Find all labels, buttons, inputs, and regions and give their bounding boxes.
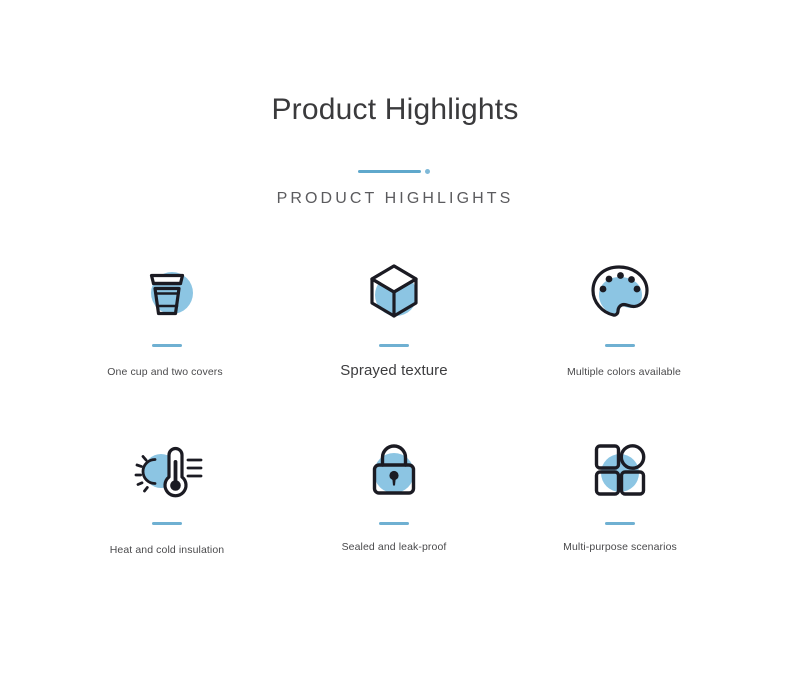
page-title: Product Highlights — [0, 0, 790, 128]
feature-label: Sprayed texture — [281, 347, 507, 379]
page-subtitle: PRODUCT HIGHLIGHTS — [0, 176, 790, 208]
feature-card-multi-purpose-scenarios[interactable]: Multi-purpose scenarios — [507, 430, 733, 553]
feature-card-sealed-and-leak-proof[interactable]: Sealed and leak-proof — [281, 430, 507, 553]
feature-card-sprayed-texture[interactable]: Sprayed texture — [281, 252, 507, 379]
divider-dot-icon — [425, 169, 430, 174]
isometric-box-icon — [281, 252, 507, 330]
feature-label: One cup and two covers — [52, 347, 278, 378]
paint-palette-icon — [507, 252, 733, 330]
product-highlights-page: Product Highlights PRODUCT HIGHLIGHTS — [0, 0, 790, 692]
feature-label: Multiple colors available — [511, 347, 737, 378]
feature-card-heat-and-cold-insulation[interactable]: Heat and cold insulation — [54, 430, 280, 556]
padlock-icon — [281, 430, 507, 508]
divider-line-icon — [358, 170, 421, 173]
coffee-cup-icon — [54, 252, 280, 330]
feature-card-multiple-colors-available[interactable]: Multiple colors available — [507, 252, 733, 378]
feature-label: Multi-purpose scenarios — [507, 525, 733, 553]
feature-row: Heat and cold insulation — [0, 430, 790, 608]
page-header: Product Highlights PRODUCT HIGHLIGHTS — [0, 0, 790, 208]
feature-label: Sealed and leak-proof — [281, 525, 507, 553]
thermometer-sun-icon — [54, 430, 280, 508]
title-divider — [0, 166, 790, 176]
feature-label: Heat and cold insulation — [54, 525, 280, 556]
feature-grid: One cup and two covers — [0, 252, 790, 608]
feature-row: One cup and two covers — [0, 252, 790, 430]
feature-card-one-cup-and-two-covers[interactable]: One cup and two covers — [54, 252, 280, 378]
grid-shapes-icon — [507, 430, 733, 508]
